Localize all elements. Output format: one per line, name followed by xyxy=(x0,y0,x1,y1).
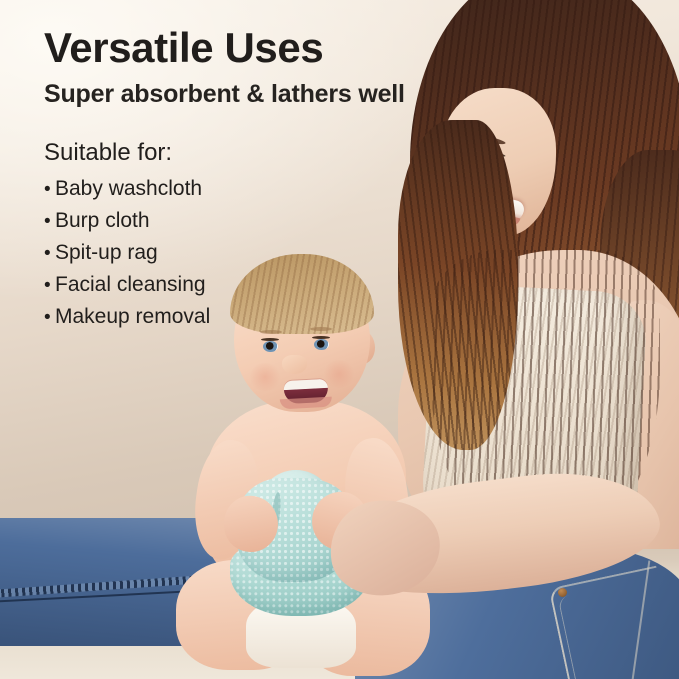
headline: Versatile Uses xyxy=(44,26,323,70)
bullet-icon: • xyxy=(44,276,55,295)
list-item-label: Makeup removal xyxy=(55,306,210,327)
list-item-label: Burp cloth xyxy=(55,210,150,231)
list-heading: Suitable for: xyxy=(44,139,172,167)
list-item-label: Spit-up rag xyxy=(55,242,158,263)
list-item: • Burp cloth xyxy=(44,210,210,231)
bullet-icon: • xyxy=(44,244,55,263)
list-item: • Spit-up rag xyxy=(44,242,210,263)
text-overlay: Versatile Uses Super absorbent & lathers… xyxy=(0,0,679,679)
bullet-icon: • xyxy=(44,308,55,327)
list-item: • Makeup removal xyxy=(44,306,210,327)
list-item-label: Baby washcloth xyxy=(55,178,202,199)
uses-list: • Baby washcloth • Burp cloth • Spit-up … xyxy=(44,178,210,338)
list-item: • Baby washcloth xyxy=(44,178,210,199)
list-item-label: Facial cleansing xyxy=(55,274,206,295)
bullet-icon: • xyxy=(44,212,55,231)
list-item: • Facial cleansing xyxy=(44,274,210,295)
subheadline: Super absorbent & lathers well xyxy=(44,80,405,109)
product-lifestyle-image: Versatile Uses Super absorbent & lathers… xyxy=(0,0,679,679)
bullet-icon: • xyxy=(44,180,55,199)
